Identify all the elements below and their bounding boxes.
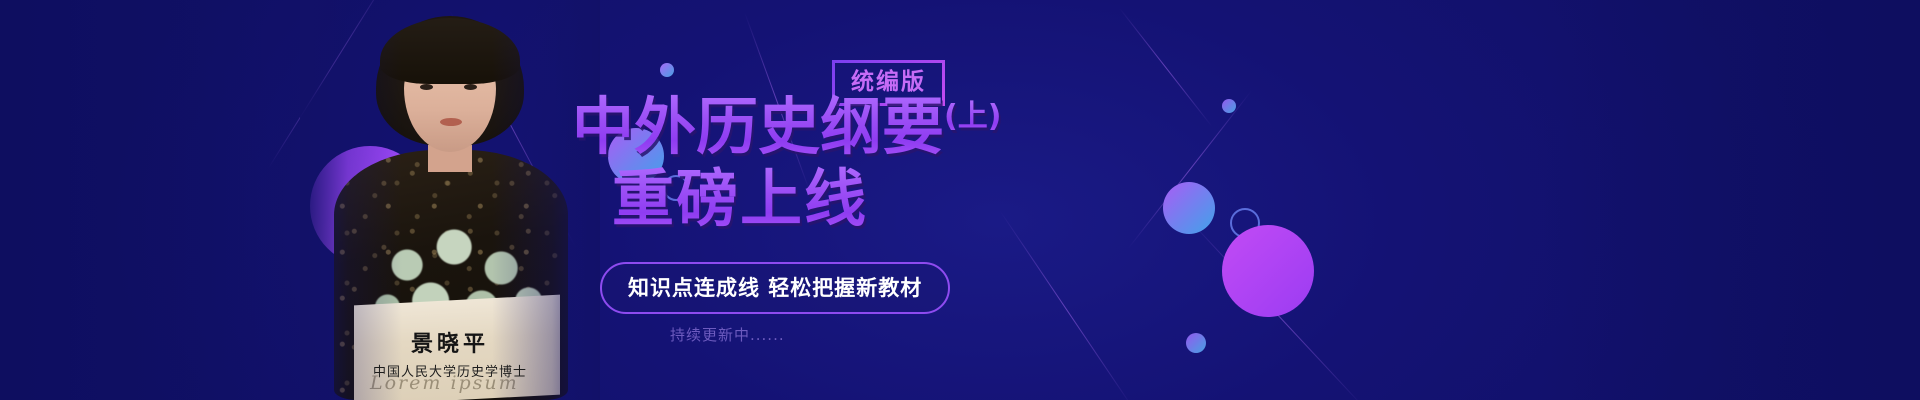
updating-note: 持续更新中...... [670,324,785,345]
promo-banner: Lorem ipsum 景晓平 中国人民大学历史学博士 统编版 中外历史纲要(上… [0,0,1920,400]
title-line-2: 重磅上线 [612,168,1172,230]
title-line-2-text: 重磅上线 [612,162,868,235]
subtitle-pill: 知识点连成线 轻松把握新教材 [600,262,950,314]
title-line-1: 中外历史纲要(上) [572,96,1132,158]
teacher-name-block: 景晓平 中国人民大学历史学博士 [300,332,600,380]
teacher-name: 景晓平 [300,332,600,358]
title-volume-superscript: (上) [944,99,1001,134]
teacher-credential: 中国人民大学历史学博士 [300,361,600,380]
title-line-1-text: 中外历史纲要 [572,90,944,163]
banner-text-column: 统编版 中外历史纲要(上) 重磅上线 知识点连成线 轻松把握新教材 持续更新中.… [560,0,1120,400]
